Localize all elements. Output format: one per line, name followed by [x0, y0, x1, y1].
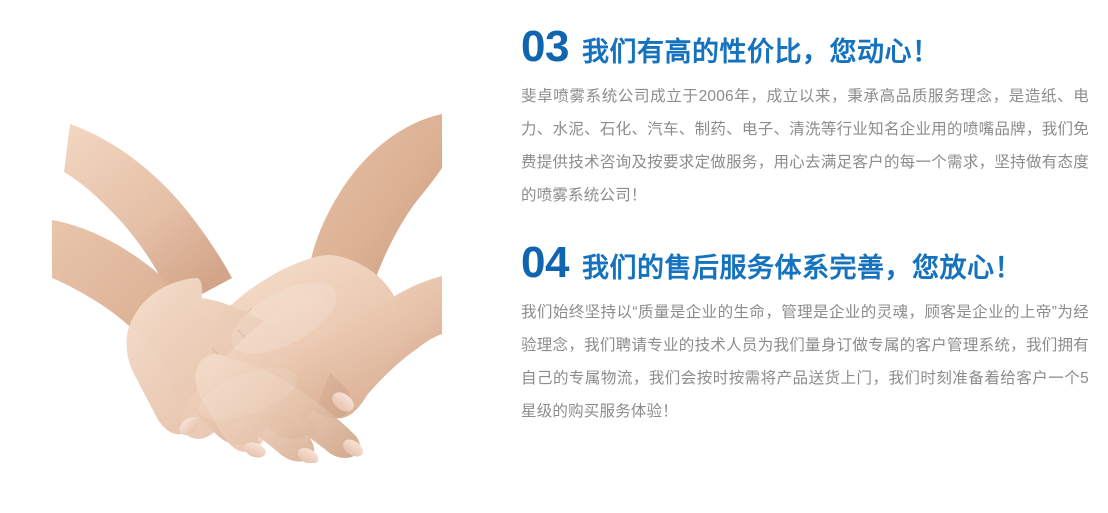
advantage-title-04: 我们的售后服务体系完善，您放心！ [582, 254, 1022, 282]
advantage-number-04: 04 [521, 240, 569, 286]
advantage-title-03: 我们有高的性价比，您动心！ [582, 38, 940, 66]
advantage-body-04: 我们始终坚持以“质量是企业的生命，管理是企业的灵魂，顾客是企业的上帝”为经验理念… [521, 296, 1089, 428]
advantage-block-04: 04 我们的售后服务体系完善，您放心！ 我们始终坚持以“质量是企业的生命，管理是… [521, 240, 1101, 428]
advantages-content: 03 我们有高的性价比，您动心！ 斐卓喷雾系统公司成立于2006年，成立以来，秉… [521, 24, 1101, 434]
teamwork-hands-photo [52, 108, 442, 463]
advantages-section: 03 我们有高的性价比，您动心！ 斐卓喷雾系统公司成立于2006年，成立以来，秉… [0, 0, 1108, 513]
advantage-heading-04: 04 我们的售后服务体系完善，您放心！ [521, 240, 1101, 286]
advantage-block-03: 03 我们有高的性价比，您动心！ 斐卓喷雾系统公司成立于2006年，成立以来，秉… [521, 24, 1101, 212]
hands-illustration [52, 108, 442, 463]
advantage-heading-03: 03 我们有高的性价比，您动心！ [521, 24, 1101, 70]
advantage-number-03: 03 [521, 24, 569, 70]
advantage-body-03: 斐卓喷雾系统公司成立于2006年，成立以来，秉承高品质服务理念，是造纸、电力、水… [521, 80, 1089, 212]
